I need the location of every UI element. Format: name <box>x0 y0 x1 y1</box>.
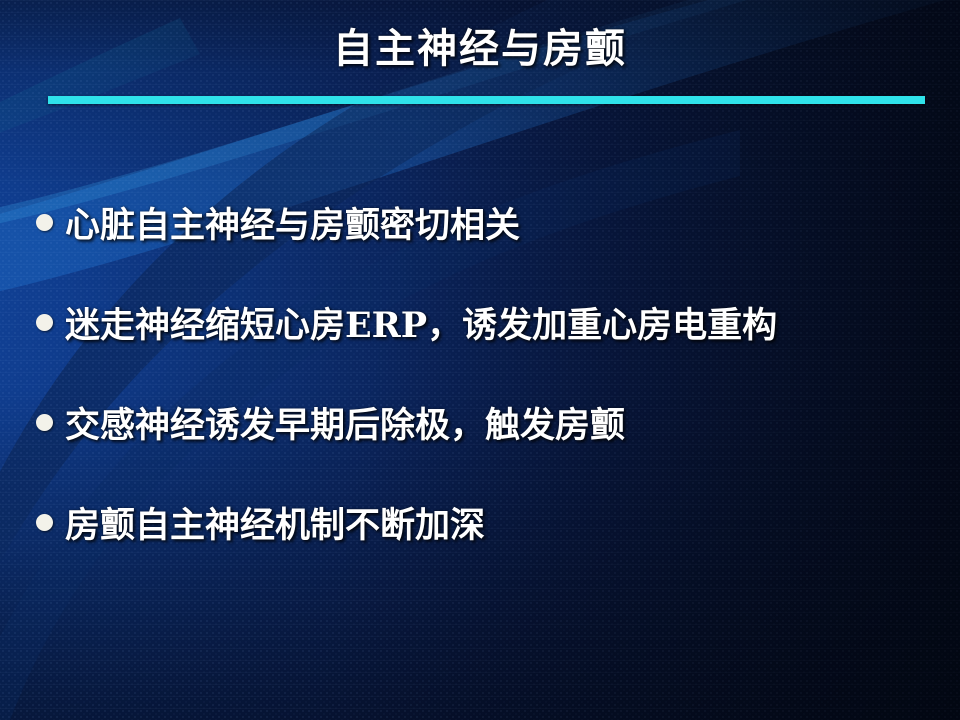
bullet-item-label: 迷走神经缩短心房ERP，诱发加重心房电重构 <box>65 297 777 348</box>
list-item: 心脏自主神经与房颤密切相关 <box>36 172 936 272</box>
bullet-circle-icon <box>36 214 53 231</box>
bullet-item-label: 交感神经诱发早期后除极，触发房颤 <box>65 397 625 448</box>
list-item: 房颤自主神经机制不断加深 <box>36 472 936 572</box>
bullet-list: 心脏自主神经与房颤密切相关 迷走神经缩短心房ERP，诱发加重心房电重构 交感神经… <box>36 172 936 572</box>
slide-title: 自主神经与房颤 <box>333 26 627 73</box>
list-item: 迷走神经缩短心房ERP，诱发加重心房电重构 <box>36 272 936 372</box>
slide-title-container: 自主神经与房颤 <box>0 26 960 73</box>
bullet-item-label: 心脏自主神经与房颤密切相关 <box>65 197 520 248</box>
bullet-circle-icon <box>36 414 53 431</box>
presentation-slide: 自主神经与房颤 心脏自主神经与房颤密切相关 迷走神经缩短心房ERP，诱发加重心房… <box>0 0 960 720</box>
list-item: 交感神经诱发早期后除极，触发房颤 <box>36 372 936 472</box>
bullet-item-label: 房颤自主神经机制不断加深 <box>65 497 485 548</box>
title-accent-rule <box>48 96 925 104</box>
bullet-circle-icon <box>36 314 53 331</box>
bullet-circle-icon <box>36 514 53 531</box>
